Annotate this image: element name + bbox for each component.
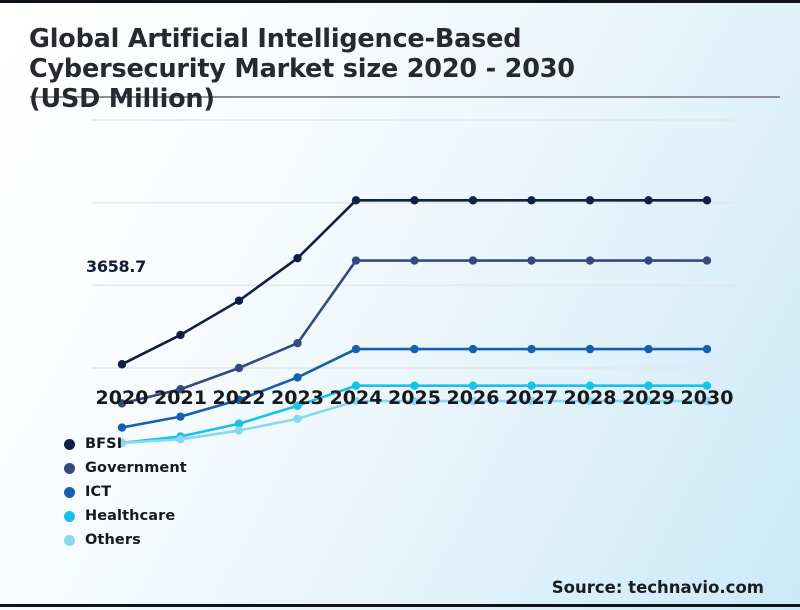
- data-point: [235, 364, 243, 372]
- legend-label: Others: [85, 532, 141, 548]
- legend-swatch-icon: [64, 439, 75, 450]
- data-point: [586, 256, 594, 264]
- data-point: [410, 196, 418, 204]
- data-point: [235, 296, 243, 304]
- data-point: [118, 423, 126, 431]
- legend-swatch-icon: [64, 487, 75, 498]
- data-point: [352, 256, 360, 264]
- data-point: [293, 339, 301, 347]
- data-point: [644, 345, 652, 353]
- legend-label: Government: [85, 460, 187, 476]
- data-point: [293, 373, 301, 381]
- chart-infographic: Global Artificial Intelligence-Based Cyb…: [0, 0, 800, 610]
- data-point: [469, 196, 477, 204]
- data-point: [527, 256, 535, 264]
- source-attribution: Source: technavio.com: [552, 578, 764, 597]
- legend-label: ICT: [85, 484, 111, 500]
- data-point: [527, 196, 535, 204]
- legend-item-government[interactable]: Government: [64, 456, 187, 480]
- data-point: [644, 256, 652, 264]
- legend-swatch-icon: [64, 463, 75, 474]
- legend-item-ict[interactable]: ICT: [64, 480, 187, 504]
- data-point: [410, 256, 418, 264]
- data-point: [410, 345, 418, 353]
- data-point: [293, 415, 301, 423]
- chart-title: Global Artificial Intelligence-Based Cyb…: [29, 24, 729, 114]
- data-point: [118, 360, 126, 368]
- legend-item-bfsi[interactable]: BFSI: [64, 432, 187, 456]
- data-point: [703, 196, 711, 204]
- legend-swatch-icon: [64, 511, 75, 522]
- x-tick-2030: 2030: [672, 387, 742, 409]
- data-point: [527, 345, 535, 353]
- legend-swatch-icon: [64, 535, 75, 546]
- data-point: [703, 345, 711, 353]
- data-point: [703, 256, 711, 264]
- data-point: [469, 345, 477, 353]
- series-bfsi: [118, 196, 711, 368]
- data-point: [644, 196, 652, 204]
- series-line-bfsi: [122, 200, 707, 364]
- legend-label: Healthcare: [85, 508, 175, 524]
- data-point: [235, 426, 243, 434]
- data-label-bfsi-2020: 3658.7: [86, 257, 146, 276]
- legend-item-others[interactable]: Others: [64, 528, 187, 552]
- data-point: [469, 256, 477, 264]
- data-point: [176, 331, 184, 339]
- bottom-border-rule: [0, 604, 800, 607]
- data-point: [352, 196, 360, 204]
- x-axis-tick-labels: 2020202120222023202420252026202720282029…: [0, 387, 800, 411]
- chart-legend: BFSIGovernmentICTHealthcareOthers: [64, 432, 187, 552]
- legend-item-healthcare[interactable]: Healthcare: [64, 504, 187, 528]
- data-point: [352, 345, 360, 353]
- data-point: [586, 196, 594, 204]
- data-point: [176, 412, 184, 420]
- data-point: [586, 345, 594, 353]
- legend-label: BFSI: [85, 436, 122, 452]
- data-point: [293, 254, 301, 262]
